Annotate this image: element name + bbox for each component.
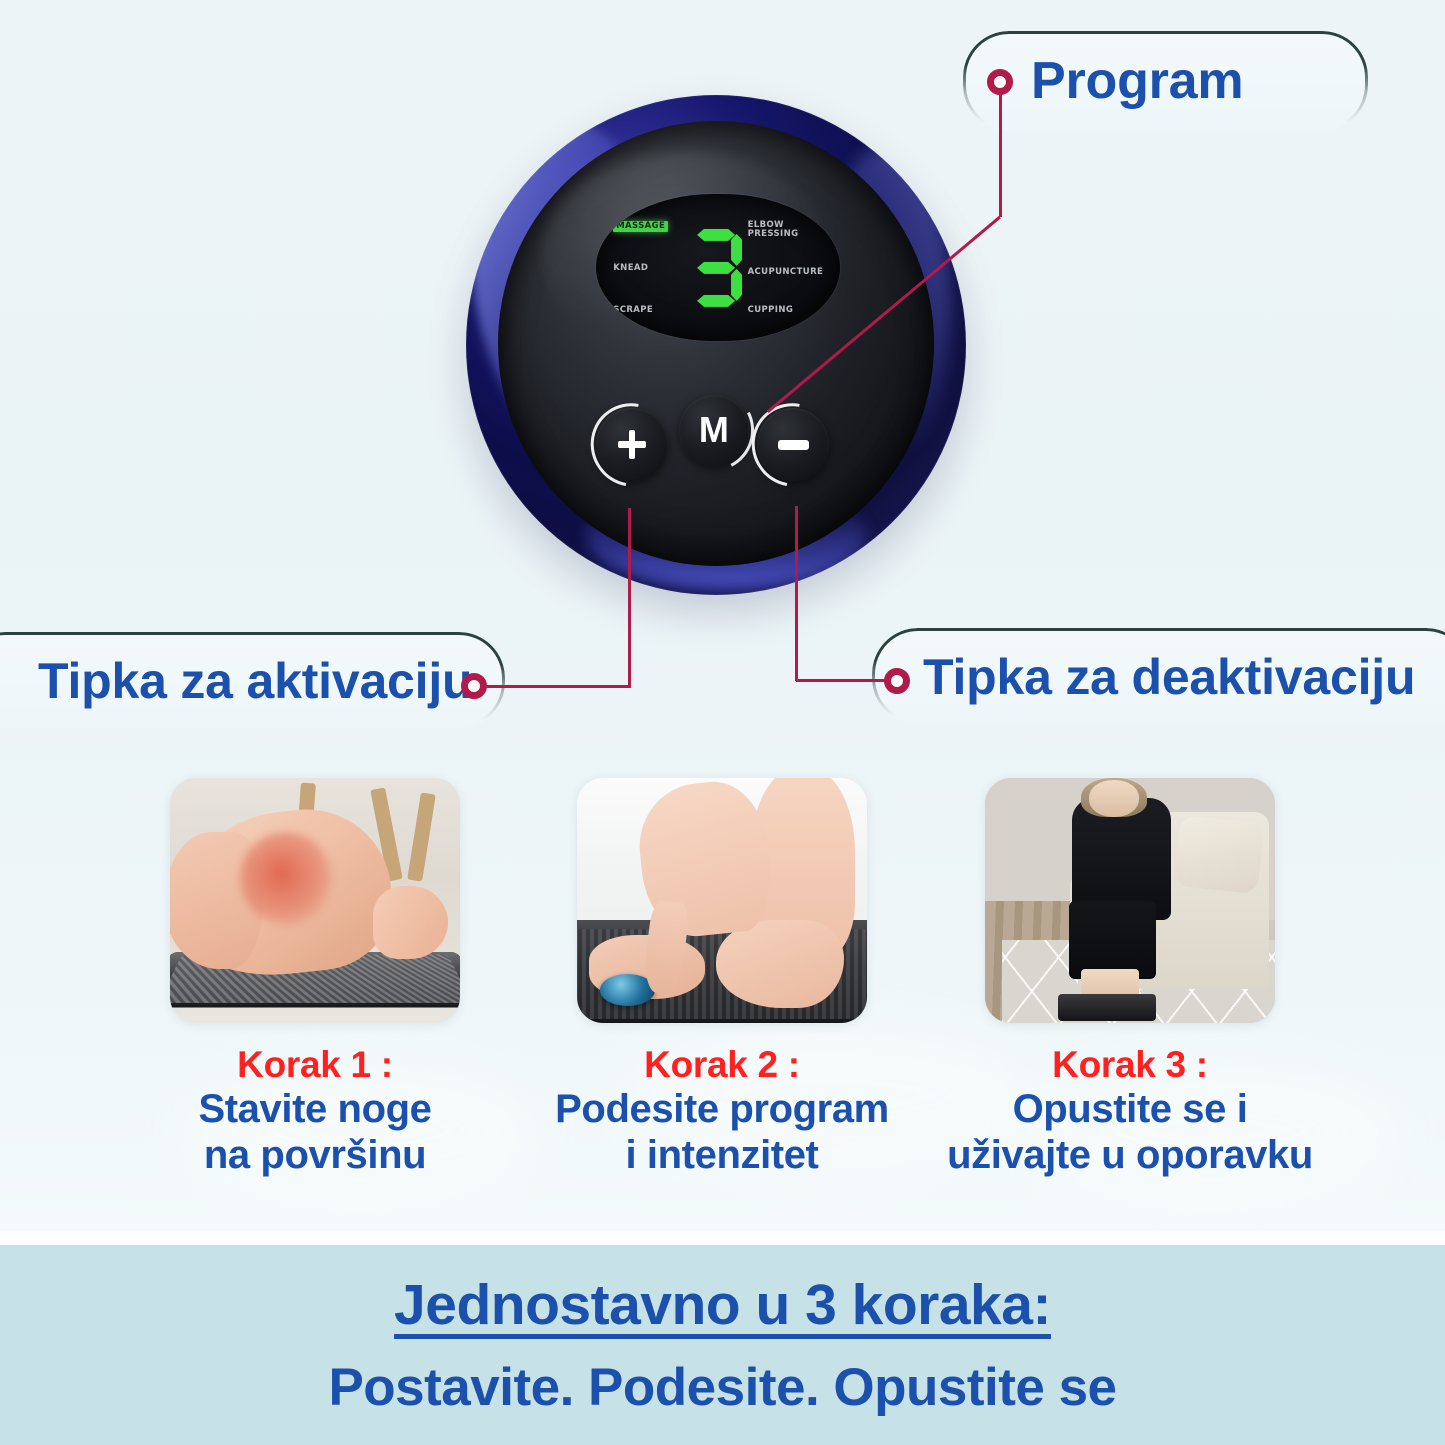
banner-subline: Postavite. Podesite. Opustite se xyxy=(328,1357,1116,1418)
step-card-3: Korak 3 : Opustite se i uživajte u opora… xyxy=(920,778,1340,1179)
device-face: MASSAGE KNEAD SCRAPE 3 ELBOW PRESSING xyxy=(498,121,934,566)
lcd-label-knead: KNEAD xyxy=(613,264,648,273)
step-1-image xyxy=(170,778,460,1023)
step-3-image xyxy=(985,778,1275,1023)
lcd-program-digit: 3 xyxy=(690,229,742,307)
lcd-left-labels: MASSAGE KNEAD SCRAPE xyxy=(613,221,684,315)
callout-label-activate: Tipka za aktivaciju xyxy=(38,652,472,710)
step-3-line-2: uživajte u oporavku xyxy=(920,1132,1340,1178)
increase-button[interactable] xyxy=(596,408,668,481)
step-2-line-2: i intenzitet xyxy=(512,1132,932,1178)
connector-activate-horizontal xyxy=(487,685,631,688)
minus-arc-icon xyxy=(736,387,851,503)
lcd-label-elbow-pressing: ELBOW PRESSING xyxy=(748,221,824,239)
step-1-line-2: na površinu xyxy=(105,1132,525,1178)
callout-marker-program[interactable] xyxy=(987,69,1013,95)
bottom-banner: Jednostavno u 3 koraka: Postavite. Podes… xyxy=(0,1245,1445,1445)
seg-c xyxy=(731,269,742,301)
mode-arc-icon xyxy=(663,379,764,481)
callout-label-program: Program xyxy=(1031,51,1243,111)
connector-activate-vertical xyxy=(628,508,631,687)
step-card-2: Korak 2 : Podesite program i intenzitet xyxy=(512,778,932,1179)
step-2-title: Korak 2 : xyxy=(512,1044,932,1086)
seg-d xyxy=(697,295,735,307)
callout-label-deactivate: Tipka za deaktivaciju xyxy=(923,648,1415,706)
step-1-title: Korak 1 : xyxy=(105,1044,525,1086)
banner-headline: Jednostavno u 3 koraka: xyxy=(394,1272,1051,1338)
lcd-display: MASSAGE KNEAD SCRAPE 3 ELBOW PRESSING xyxy=(596,194,840,341)
background-divider-strip xyxy=(0,1231,1445,1245)
promo-infographic: MASSAGE KNEAD SCRAPE 3 ELBOW PRESSING xyxy=(0,0,1445,1445)
callout-marker-activate[interactable] xyxy=(461,673,487,699)
connector-deactivate-horizontal xyxy=(796,679,886,682)
lcd-label-massage: MASSAGE xyxy=(613,221,668,232)
step-card-1: Korak 1 : Stavite noge na površinu xyxy=(105,778,525,1179)
mode-button[interactable]: M xyxy=(679,395,749,466)
step-2-image xyxy=(577,778,867,1023)
step-3-line-1: Opustite se i xyxy=(920,1086,1340,1132)
decrease-button[interactable] xyxy=(757,408,829,481)
step-2-line-1: Podesite program xyxy=(512,1086,932,1132)
step-3-title: Korak 3 : xyxy=(920,1044,1340,1086)
seg-a xyxy=(697,229,735,241)
step-1-line-1: Stavite noge xyxy=(105,1086,525,1132)
callout-marker-deactivate[interactable] xyxy=(884,668,910,694)
lcd-label-cupping: CUPPING xyxy=(748,306,794,315)
plus-icon xyxy=(618,430,647,459)
device-illustration: MASSAGE KNEAD SCRAPE 3 ELBOW PRESSING xyxy=(466,95,966,595)
connector-deactivate-vertical xyxy=(795,506,798,681)
lcd-right-labels: ELBOW PRESSING ACUPUNCTURE CUPPING xyxy=(748,221,824,315)
seg-g xyxy=(697,262,735,274)
seg-b xyxy=(731,234,742,266)
lcd-label-acupuncture: ACUPUNCTURE xyxy=(748,268,824,277)
connector-program-vertical xyxy=(999,95,1002,217)
lcd-label-scrape: SCRAPE xyxy=(613,306,653,315)
